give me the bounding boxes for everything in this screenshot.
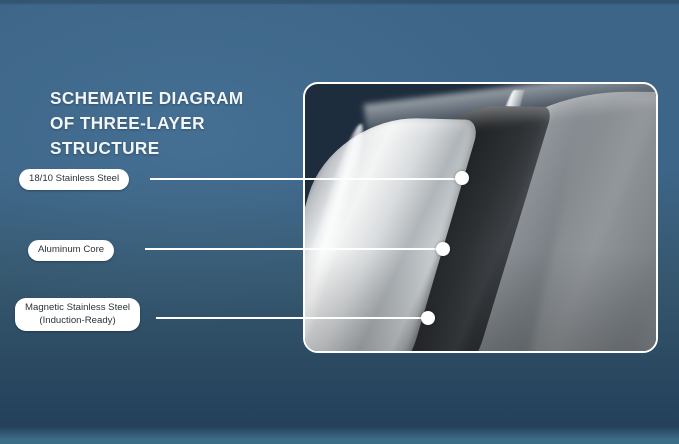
diagram-image-panel (303, 82, 658, 353)
cookware-cross-section-image (305, 84, 656, 351)
leader-line-2 (145, 248, 443, 250)
page-title: SCHEMATIE DIAGRAM OF THREE-LAYER STRUCTU… (50, 86, 310, 161)
callout-dot-3 (421, 311, 435, 325)
leader-line-3 (156, 317, 428, 319)
callout-label-18-10-stainless-steel: 18/10 Stainless Steel (19, 169, 129, 190)
callout-label-magnetic-stainless-steel: Magnetic Stainless Steel (Induction-Read… (15, 298, 140, 331)
callout-dot-2 (436, 242, 450, 256)
leader-line-1 (150, 178, 462, 180)
callout-label-aluminum-core: Aluminum Core (28, 240, 114, 261)
callout-dot-1 (455, 171, 469, 185)
